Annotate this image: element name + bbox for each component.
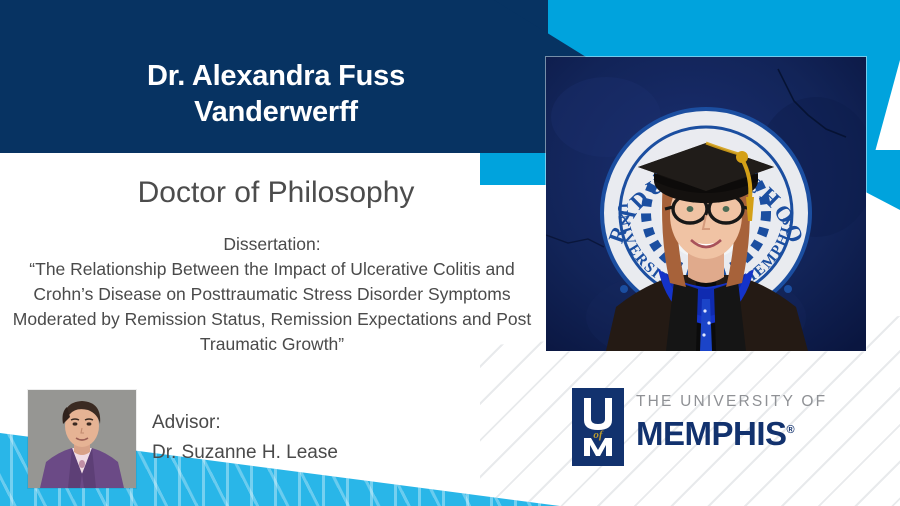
graduate-name-line2: Vanderwerff <box>194 96 358 128</box>
advisor-portrait-graphic <box>28 390 136 488</box>
advisor-photo <box>28 390 136 488</box>
graduate-photo: GRADUATE SCHOOL UNIVERSITY MEMPHIS <box>546 57 866 351</box>
advisor-name: Dr. Suzanne H. Lease <box>152 438 452 468</box>
registered-mark: ® <box>787 424 795 436</box>
logo-of-text: of <box>593 429 604 441</box>
dissertation-title: “The Relationship Between the Impact of … <box>8 257 536 357</box>
degree-title: Doctor of Philosophy <box>20 174 532 212</box>
graduate-portrait-graphic: GRADUATE SCHOOL UNIVERSITY MEMPHIS <box>546 57 866 351</box>
logo-line-university: THE UNIVERSITY OF <box>636 392 836 412</box>
graduate-name: Dr. Alexandra Fuss Vanderwerff <box>20 58 532 130</box>
uofm-monogram-icon: of <box>572 388 624 466</box>
logo-wordmark: THE UNIVERSITY OF MEMPHIS® <box>636 392 836 452</box>
advisor-label: Advisor: <box>152 408 452 438</box>
advisor-info: Advisor: Dr. Suzanne H. Lease <box>152 408 452 468</box>
dissertation-block: Dissertation: “The Relationship Between … <box>8 232 536 357</box>
logo-line-memphis: MEMPHIS® <box>636 412 836 452</box>
commencement-slide: Dr. Alexandra Fuss Vanderwerff Doctor of… <box>0 0 900 506</box>
university-logo: of THE UNIVERSITY OF MEMPHIS® <box>572 388 834 468</box>
dissertation-label: Dissertation: <box>8 232 536 257</box>
uofm-logo-mark: of <box>572 388 624 466</box>
graduate-name-line1: Dr. Alexandra Fuss <box>147 60 405 92</box>
